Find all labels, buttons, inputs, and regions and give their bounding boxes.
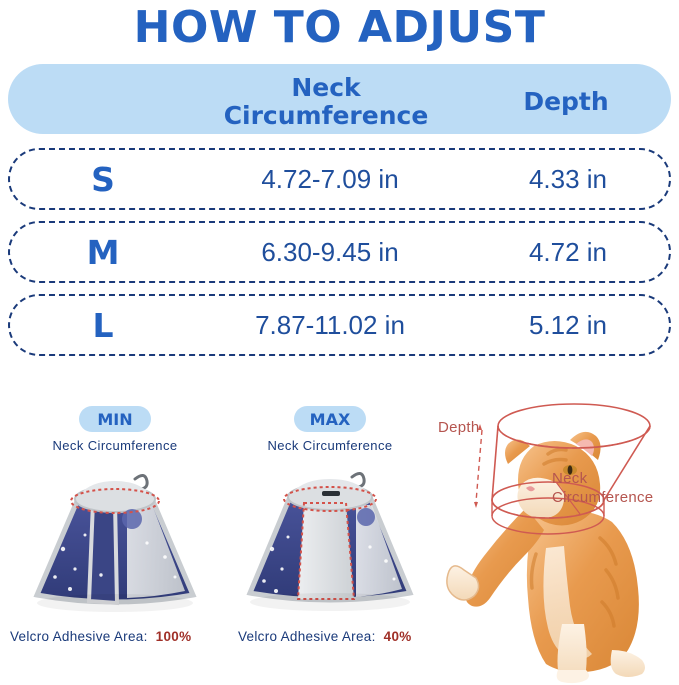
cat-hind-foot [611,650,645,677]
infographic-page: HOW TO ADJUST Neck Circumference Depth S… [0,0,679,685]
neck-value: 4.72-7.09 in [190,150,470,208]
page-title: HOW TO ADJUST [0,2,679,53]
size-label: S [48,150,158,208]
table-row: L 7.87-11.02 in 5.12 in [8,294,671,356]
cone-shadow [250,593,410,611]
max-velcro-label: Velcro Adhesive Area: [238,629,376,644]
cone-shadow [37,594,193,612]
neck-header-line2: Circumference [196,102,456,130]
max-velcro-line: Velcro Adhesive Area:40% [238,629,412,644]
neck-annotation-line2: Circumference [552,489,653,508]
neck-annotation-line1: Neck [552,470,653,489]
size-label: M [48,223,158,281]
depth-value: 5.12 in [478,296,658,354]
table-row: S 4.72-7.09 in 4.33 in [8,148,671,210]
max-velcro-value: 40% [384,629,412,644]
min-velcro-line: Velcro Adhesive Area:100% [10,629,191,644]
cone-seam-flap [89,502,117,603]
collar-clip [322,491,340,496]
size-label: L [48,296,158,354]
min-panel: MIN Neck Circumference [0,392,230,617]
min-cone-illustration [0,457,230,617]
table-row: M 6.30-9.45 in 4.72 in [8,221,671,283]
neck-value: 7.87-11.02 in [190,296,470,354]
cone-side-left [492,426,498,500]
max-caption: Neck Circumference [230,438,430,453]
cone-max-svg [230,457,430,617]
column-header-neck-circumference: Neck Circumference [196,74,456,130]
velcro-exposed-panel [298,503,354,599]
depth-arrow-bottom [474,502,478,508]
table-header-bar: Neck Circumference Depth [8,64,671,134]
min-caption: Neck Circumference [0,438,230,453]
max-badge: MAX [294,406,366,432]
cat-front-foot [557,670,589,683]
neck-annotation-label: Neck Circumference [552,470,653,508]
depth-annotation-label: Depth [438,419,480,436]
column-header-depth: Depth [476,87,656,116]
cone-min-svg [15,457,215,617]
cone-moon-motif [357,508,375,526]
depth-dimension-line [476,430,482,502]
depth-value: 4.72 in [478,223,658,281]
max-cone-illustration [230,457,430,617]
neck-header-line1: Neck [196,74,456,102]
min-velcro-value: 100% [156,629,192,644]
min-badge: MIN [79,406,151,432]
max-panel: MAX Neck Circumference [230,392,430,617]
neck-value: 6.30-9.45 in [190,223,470,281]
cat-paw [447,566,479,600]
cat-measurement-diagram: Depth Neck Circumference [430,388,679,685]
min-velcro-label: Velcro Adhesive Area: [10,629,148,644]
depth-value: 4.33 in [478,150,658,208]
